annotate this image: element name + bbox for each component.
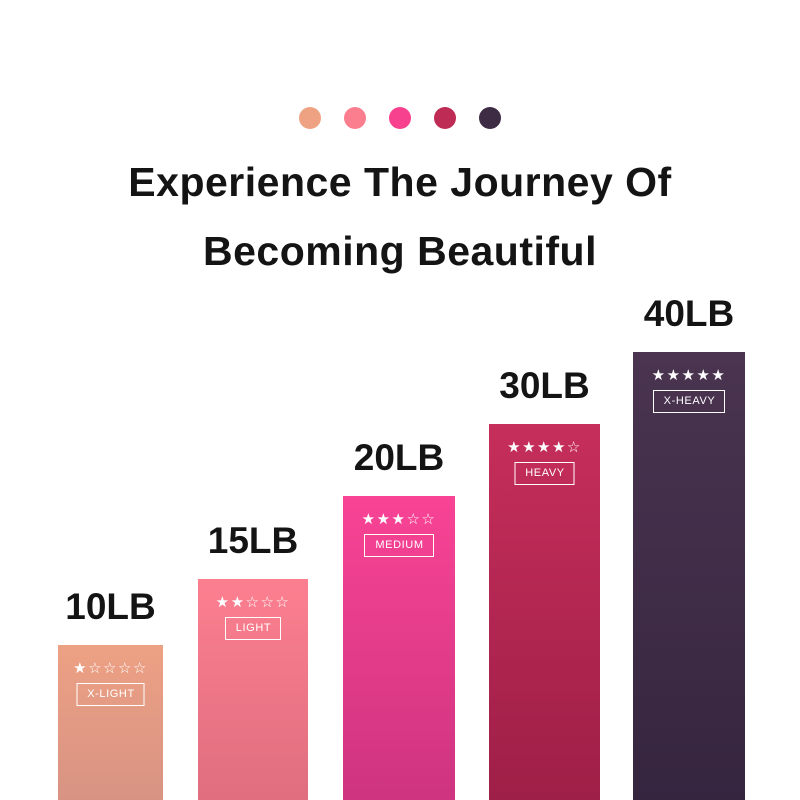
- bar-30lb: ★★★★☆HEAVY: [489, 424, 600, 800]
- bar-20lb-level-badge: MEDIUM: [364, 534, 433, 557]
- bar-20lb-group: 20LB★★★☆☆MEDIUM: [343, 496, 455, 800]
- bar-30lb-group: 30LB★★★★☆HEAVY: [489, 424, 600, 800]
- resistance-band-bar-chart: 10LB★☆☆☆☆X-LIGHT15LB★★☆☆☆LIGHT20LB★★★☆☆M…: [0, 0, 800, 800]
- bar-15lb-rating-block: ★★☆☆☆LIGHT: [198, 595, 308, 640]
- bar-40lb-value-label: 40LB: [644, 295, 734, 332]
- bar-10lb-level-badge: X-LIGHT: [76, 683, 145, 706]
- bar-40lb: ★★★★★X-HEAVY: [633, 352, 745, 800]
- bar-10lb-star-rating-icon: ★☆☆☆☆: [73, 661, 148, 677]
- bar-20lb-star-rating-icon: ★★★☆☆: [362, 512, 437, 528]
- bar-20lb-value-label: 20LB: [354, 439, 444, 476]
- bar-10lb-value-label: 10LB: [65, 588, 155, 625]
- bar-30lb-rating-block: ★★★★☆HEAVY: [489, 440, 600, 485]
- bar-40lb-star-rating-icon: ★★★★★: [652, 368, 727, 384]
- bar-15lb-level-badge: LIGHT: [225, 617, 281, 640]
- bar-15lb-group: 15LB★★☆☆☆LIGHT: [198, 579, 308, 800]
- bar-15lb-value-label: 15LB: [208, 522, 298, 559]
- bar-20lb: ★★★☆☆MEDIUM: [343, 496, 455, 800]
- bar-10lb-group: 10LB★☆☆☆☆X-LIGHT: [58, 645, 163, 800]
- bar-30lb-star-rating-icon: ★★★★☆: [507, 440, 582, 456]
- bar-40lb-group: 40LB★★★★★X-HEAVY: [633, 352, 745, 800]
- bar-15lb: ★★☆☆☆LIGHT: [198, 579, 308, 800]
- bar-30lb-level-badge: HEAVY: [514, 462, 574, 485]
- bar-40lb-rating-block: ★★★★★X-HEAVY: [633, 368, 745, 413]
- bar-30lb-value-label: 30LB: [499, 367, 589, 404]
- bar-10lb-rating-block: ★☆☆☆☆X-LIGHT: [58, 661, 163, 706]
- bar-20lb-rating-block: ★★★☆☆MEDIUM: [343, 512, 455, 557]
- bar-40lb-level-badge: X-HEAVY: [653, 390, 726, 413]
- bar-10lb: ★☆☆☆☆X-LIGHT: [58, 645, 163, 800]
- promo-infographic: Experience The Journey Of Becoming Beaut…: [0, 0, 800, 800]
- bar-15lb-star-rating-icon: ★★☆☆☆: [216, 595, 291, 611]
